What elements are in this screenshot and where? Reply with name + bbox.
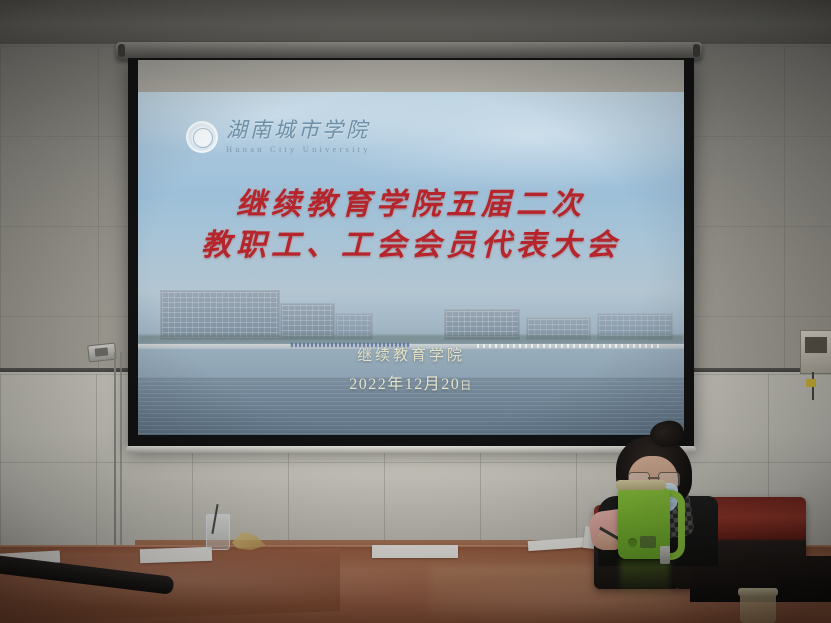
university-seal-icon [186, 121, 218, 153]
drinking-glass [206, 514, 230, 550]
kettle-lid [616, 480, 666, 490]
university-name-en: Hunan City University [226, 144, 371, 154]
slide-university-logo: 湖南城市学院 Hunan City University [186, 120, 371, 154]
glass-jar [740, 592, 776, 623]
outlet-tag-icon [806, 379, 816, 387]
slide-title-line2: 教职工、工会会员代表大会 [138, 225, 684, 266]
campus-treeline [138, 335, 684, 344]
meeting-room-photo: 湖南城市学院 Hunan City University 继续教育学院五届二次 … [0, 0, 831, 623]
roller-end-cap [693, 44, 700, 57]
electrical-outlet-box[interactable] [800, 330, 831, 374]
slide-date: 2022年12月20日 [138, 370, 684, 394]
slide-subtitle: 继续教育学院 [138, 344, 684, 365]
ceiling [0, 0, 831, 44]
paper-sheet [140, 547, 212, 564]
kettle-power-button[interactable] [628, 538, 637, 547]
screen-blank-strip [138, 60, 684, 92]
slide-title: 继续教育学院五届二次 教职工、工会会员代表大会 [138, 184, 684, 267]
paper-sheet [372, 545, 458, 558]
roller-end-cap [118, 44, 125, 57]
slide-date-value: 2022年12月20 [349, 376, 460, 393]
university-name-cn: 湖南城市学院 [226, 120, 371, 141]
kettle-spout [660, 546, 670, 564]
kettle-reflection [620, 559, 670, 599]
wall-switch-icon[interactable] [87, 343, 117, 363]
cable-icon [120, 352, 122, 548]
kettle-label [640, 536, 656, 548]
campus-building [160, 290, 280, 339]
projected-slide: 湖南城市学院 Hunan City University 继续教育学院五届二次 … [138, 92, 684, 435]
slide-title-line1: 继续教育学院五届二次 [138, 184, 684, 225]
cable-icon [114, 352, 116, 548]
slide-date-unit: 日 [460, 380, 473, 392]
